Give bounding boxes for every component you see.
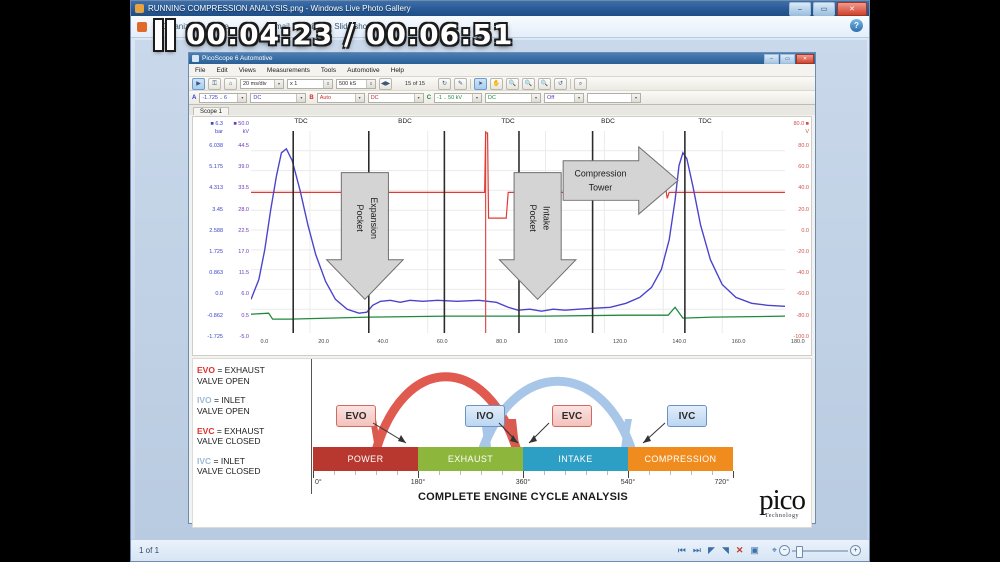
next-icon[interactable]: ⏭ <box>693 546 701 555</box>
help-icon[interactable]: ? <box>850 19 863 32</box>
samples-select[interactable]: 500 kS⇕ <box>336 79 376 89</box>
compression-tower-text: Compression <box>574 169 626 179</box>
status-controls[interactable]: ⏮ ⏭ ◤ ◥ ✕ ▣ ⌖ − + <box>678 545 861 556</box>
legend-abbr-evc: EVC <box>197 426 214 436</box>
toolbar-file[interactable]: File <box>243 22 256 31</box>
y-left-tick: -0.8620.5 <box>193 313 251 319</box>
legend-text-ivo: = INLET <box>214 395 245 405</box>
y-right-tick: 0.0 <box>785 228 809 234</box>
channel-c-coupling[interactable]: DC▾ <box>485 93 541 103</box>
channel-b-label: B <box>309 95 313 101</box>
zoom-knob[interactable] <box>796 546 803 558</box>
legend-text-ivc: = INLET <box>214 456 245 466</box>
toolbar-separator-2 <box>570 79 571 89</box>
x-axis-tick: 60.0 <box>437 339 448 345</box>
ps-maximize-button[interactable]: ▭ <box>780 54 795 64</box>
y-axis-right: 80.0 ■ V 80.060.040.020.00.0-20.0-40.0-6… <box>785 117 811 355</box>
key-icon[interactable]: ⚿ <box>208 78 221 90</box>
hand-icon[interactable]: ✋ <box>490 78 503 90</box>
zoom-reset-icon[interactable]: ⌕ <box>574 78 587 90</box>
x-axis-tick: 40.0 <box>378 339 389 345</box>
picoscope-tab-row[interactable]: Scope 1 <box>189 105 815 115</box>
capture-icon[interactable]: ▶ <box>192 78 205 90</box>
multiplier-field[interactable]: x 1⇕ <box>287 79 333 89</box>
undo-icon[interactable]: ↺ <box>554 78 567 90</box>
y-left-tick: 3.4528.0 <box>193 207 251 213</box>
menu-automotive[interactable]: Automotive <box>347 67 380 74</box>
screen-root: RUNNING COMPRESSION ANALYSIS.png - Windo… <box>0 0 1000 562</box>
menu-views[interactable]: Views <box>239 67 256 74</box>
unit-kv: kV <box>223 129 251 135</box>
gallery-menu-icon[interactable] <box>137 22 147 32</box>
cursor-label-bdc-1: BDC <box>398 118 412 125</box>
picoscope-window: PicoScope 6 Automotive – ▭ ✕ File Edit V… <box>188 52 816 524</box>
previous-icon[interactable]: ⏮ <box>678 546 686 555</box>
intake-pocket-text: Intake <box>542 206 552 230</box>
expansion-pocket-annotation: Expansion Pocket <box>327 173 404 300</box>
engine-stroke-bar: POWER EXHAUST INTAKE COMPRESSION <box>313 447 733 471</box>
svg-text:Tower: Tower <box>589 182 613 192</box>
degree-label: 540° <box>621 479 635 486</box>
ivc-arrow <box>621 419 632 449</box>
picoscope-toolbar-row1[interactable]: ▶ ⚿ ⌂ 20 ms/div▾ x 1⇕ 500 kS⇕ ◀▶ 15 of 1… <box>189 77 815 91</box>
pico-logo: pico Technology <box>759 488 805 519</box>
legend-text2-ivo: VALVE OPEN <box>197 406 250 416</box>
x-axis-tick: 160.0 <box>732 339 746 345</box>
legend-text-evc: = EXHAUST <box>217 426 264 436</box>
zoom-out-icon[interactable]: − <box>779 545 790 556</box>
x-axis: 0.020.040.060.080.0100.0120.0140.0160.01… <box>251 339 785 349</box>
buffer-nav-icon[interactable]: ◀▶ <box>379 78 392 90</box>
engine-cycle-diagram: EVO = EXHAUST VALVE OPEN IVO = INLET VAL… <box>192 358 812 528</box>
degree-tick <box>670 471 671 475</box>
degree-tick <box>376 471 377 475</box>
degree-tick <box>313 471 314 478</box>
degree-tick <box>418 471 419 478</box>
y-right-tick: 60.0 <box>785 164 809 170</box>
legend-item-ivo: IVO = INLET VALVE OPEN <box>197 395 307 416</box>
legend-item-evc: EVC = EXHAUST VALVE CLOSED <box>197 426 307 447</box>
x-axis-tick: 0.0 <box>261 339 269 345</box>
buffer-counter: 15 of 15 <box>395 81 435 87</box>
cursor-label-tdc-4: TDC <box>698 118 711 125</box>
picoscope-title-bar: PicoScope 6 Automotive – ▭ ✕ <box>189 53 815 64</box>
degree-tick <box>523 471 524 478</box>
svg-text:Pocket: Pocket <box>528 205 538 233</box>
degree-tick <box>544 471 545 475</box>
legend-text2-evo: VALVE OPEN <box>197 376 250 386</box>
degree-tick <box>586 471 587 475</box>
actual-size-icon[interactable]: ⌖ <box>772 546 777 555</box>
toolbar-organize[interactable]: Organize <box>161 22 193 31</box>
x-axis-tick: 140.0 <box>672 339 686 345</box>
channel-c-range[interactable]: -1 .. 50 kV▾ <box>434 93 482 103</box>
y-right-tick: -40.0 <box>785 270 809 276</box>
gallery-title: RUNNING COMPRESSION ANALYSIS.png - Windo… <box>148 4 411 13</box>
y-left-tick: 0.06.0 <box>193 291 251 297</box>
degree-tick <box>565 471 566 475</box>
gallery-status-bar: 1 of 1 ⏮ ⏭ ◤ ◥ ✕ ▣ ⌖ − + <box>131 539 869 561</box>
cursor-label-tdc-0: TDC <box>294 118 307 125</box>
svg-text:Pocket: Pocket <box>355 205 365 233</box>
channel-a-marker: ■ 6.3 <box>193 121 223 127</box>
channel-right-marker: 80.0 ■ <box>785 121 809 127</box>
degree-tick <box>397 471 398 475</box>
y-left-tick: 2.58822.5 <box>193 228 251 234</box>
diagram-caption: COMPLETE ENGINE CYCLE ANALYSIS <box>313 491 733 503</box>
channel-b-marker: ■ 50.0 <box>223 121 251 127</box>
picoscope-app-icon <box>192 55 199 62</box>
zoom-slider[interactable]: ⌖ − + <box>772 545 861 556</box>
ps-close-button[interactable]: ✕ <box>796 54 814 64</box>
menu-measurements[interactable]: Measurements <box>267 67 310 74</box>
y-right-tick: -60.0 <box>785 291 809 297</box>
gallery-toolbar[interactable]: Organize Share File Email Print Slide sh… <box>131 16 869 38</box>
valve-legend: EVO = EXHAUST VALVE OPEN IVO = INLET VAL… <box>197 365 307 486</box>
expansion-pocket-text: Expansion <box>369 197 379 239</box>
unit-v: V <box>785 129 809 135</box>
degree-tick <box>481 471 482 475</box>
picoscope-menu-bar[interactable]: File Edit Views Measurements Tools Autom… <box>189 64 815 77</box>
legend-abbr-ivc: IVC <box>197 456 211 466</box>
toolbar-share[interactable]: Share <box>207 22 228 31</box>
rotate-right-icon[interactable]: ◥ <box>722 546 729 555</box>
waveform-plot[interactable]: Expansion Pocket Intake Pocket Compressi… <box>251 131 785 333</box>
menu-help[interactable]: Help <box>391 67 404 74</box>
pointer-icon[interactable]: ➤ <box>474 78 487 90</box>
x-axis-tick: 100.0 <box>554 339 568 345</box>
waveform-svg: Expansion Pocket Intake Pocket Compressi… <box>251 131 785 333</box>
stroke-compression: COMPRESSION <box>628 447 733 471</box>
x-axis-tick: 120.0 <box>613 339 627 345</box>
pico-subtext: Technology <box>759 513 805 519</box>
present-icon[interactable]: ▣ <box>750 546 759 555</box>
callout-ivc[interactable]: IVC <box>667 405 707 427</box>
channel-b-range[interactable]: Auto▾ <box>317 93 365 103</box>
picoscope-toolbar-row2[interactable]: A -1.725 .. 6▾ DC▾ B Auto▾ DC▾ C -1 .. 5… <box>189 91 815 105</box>
rotate-left-icon[interactable]: ◤ <box>708 546 715 555</box>
stroke-exhaust: EXHAUST <box>418 447 523 471</box>
callout-evc[interactable]: EVC <box>552 405 592 427</box>
channel-a-label: A <box>192 95 196 101</box>
stroke-intake: INTAKE <box>523 447 628 471</box>
delete-icon[interactable]: ✕ <box>736 546 744 555</box>
minimize-button[interactable]: – <box>789 2 811 16</box>
toolbar-email[interactable]: Email <box>270 22 290 31</box>
channel-b-coupling[interactable]: DC▾ <box>368 93 424 103</box>
home-icon[interactable]: ⌂ <box>224 78 237 90</box>
zoom-in-icon[interactable]: 🔍 <box>506 78 519 90</box>
y-right-tick: 80.0 <box>785 143 809 149</box>
y-right-tick: -80.0 <box>785 313 809 319</box>
y-left-tick: 5.17539.0 <box>193 164 251 170</box>
degree-tick <box>691 471 692 475</box>
legend-item-evo: EVO = EXHAUST VALVE OPEN <box>197 365 307 386</box>
degree-tick <box>460 471 461 475</box>
zoom-out-icon[interactable]: 🔍 <box>522 78 535 90</box>
y-right-tick: 40.0 <box>785 185 809 191</box>
x-axis-tick: 20.0 <box>318 339 329 345</box>
gallery-title-bar: RUNNING COMPRESSION ANALYSIS.png - Windo… <box>131 1 869 16</box>
legend-item-ivc: IVC = INLET VALVE CLOSED <box>197 456 307 477</box>
edit-icon[interactable]: ✎ <box>454 78 467 90</box>
degree-label: 0° <box>315 479 322 486</box>
y-left-tick: 1.72517.0 <box>193 249 251 255</box>
image-counter: 1 of 1 <box>139 546 159 555</box>
toolbar-print[interactable]: Print <box>304 22 320 31</box>
degree-tick <box>439 471 440 475</box>
picoscope-window-buttons[interactable]: – ▭ ✕ <box>764 54 814 64</box>
y-left-tick: -1.725-5.0 <box>193 334 251 340</box>
compression-tower-annotation: Compression Tower <box>563 147 678 214</box>
maximize-button[interactable]: ▭ <box>813 2 835 16</box>
menu-tools[interactable]: Tools <box>321 67 336 74</box>
degree-tick <box>649 471 650 475</box>
channel-a-coupling[interactable]: DC▾ <box>250 93 306 103</box>
unit-bar: bar <box>193 129 223 135</box>
stroke-power: POWER <box>313 447 418 471</box>
legend-abbr-ivo: IVO <box>197 395 212 405</box>
y-left-tick: 0.86311.5 <box>193 270 251 276</box>
y-left-tick: 4.31333.5 <box>193 185 251 191</box>
x-axis-tick: 80.0 <box>496 339 507 345</box>
degree-label: 180° <box>411 479 425 486</box>
degree-label: 360° <box>516 479 530 486</box>
tab-scope-1[interactable]: Scope 1 <box>193 107 229 115</box>
callout-evo[interactable]: EVO <box>336 405 376 427</box>
callout-ivo[interactable]: IVO <box>465 405 505 427</box>
y-right-tick: -20.0 <box>785 249 809 255</box>
extra-select-2[interactable]: ▾ <box>587 93 641 103</box>
zoom-fit-icon[interactable]: 🔍 <box>538 78 551 90</box>
gallery-app-icon <box>135 4 144 13</box>
refresh-icon[interactable]: ↻ <box>438 78 451 90</box>
zoom-in-icon[interactable]: + <box>850 545 861 556</box>
ps-minimize-button[interactable]: – <box>764 54 779 64</box>
menu-edit[interactable]: Edit <box>216 67 227 74</box>
legend-text2-ivc: VALVE CLOSED <box>197 466 260 476</box>
degree-tick-marks <box>313 471 733 479</box>
legend-divider <box>311 359 312 494</box>
close-button[interactable]: ✕ <box>837 2 867 16</box>
degree-tick <box>502 471 503 475</box>
degree-tick <box>733 471 734 478</box>
degree-tick <box>355 471 356 475</box>
evc-arrow <box>509 419 519 449</box>
legend-text2-evc: VALVE CLOSED <box>197 436 260 446</box>
legend-text-evo: = EXHAUST <box>217 365 264 375</box>
pico-wordmark: pico <box>759 488 805 513</box>
picoscope-title: PicoScope 6 Automotive <box>202 55 272 62</box>
y-axis-left: ■ 6.3 ■ 50.0 bar kV 6.03844.55.17539.04.… <box>193 117 251 355</box>
cursor-label-tdc-2: TDC <box>501 118 514 125</box>
degree-tick <box>712 471 713 475</box>
zoom-track[interactable] <box>792 550 848 552</box>
extra-select[interactable]: Off▾ <box>544 93 584 103</box>
toolbar-separator <box>470 79 471 89</box>
x-axis-tick: 180.0 <box>791 339 805 345</box>
degree-tick <box>607 471 608 475</box>
menu-file[interactable]: File <box>195 67 205 74</box>
degree-tick <box>334 471 335 475</box>
y-left-tick: 6.03844.5 <box>193 143 251 149</box>
toolbar-slide-show[interactable]: Slide show <box>334 22 373 31</box>
channel-c-label: C <box>427 95 431 101</box>
scope-graph: ■ 6.3 ■ 50.0 bar kV 6.03844.55.17539.04.… <box>192 116 812 356</box>
degree-label: 720° <box>715 479 729 486</box>
legend-abbr-evo: EVO <box>197 365 215 375</box>
channel-a-range[interactable]: -1.725 .. 6▾ <box>199 93 247 103</box>
timebase-select[interactable]: 20 ms/div▾ <box>240 79 284 89</box>
y-right-tick: 20.0 <box>785 207 809 213</box>
cursor-label-bdc-3: BDC <box>601 118 615 125</box>
gallery-window-buttons[interactable]: – ▭ ✕ <box>789 2 867 16</box>
degree-tick <box>628 471 629 478</box>
